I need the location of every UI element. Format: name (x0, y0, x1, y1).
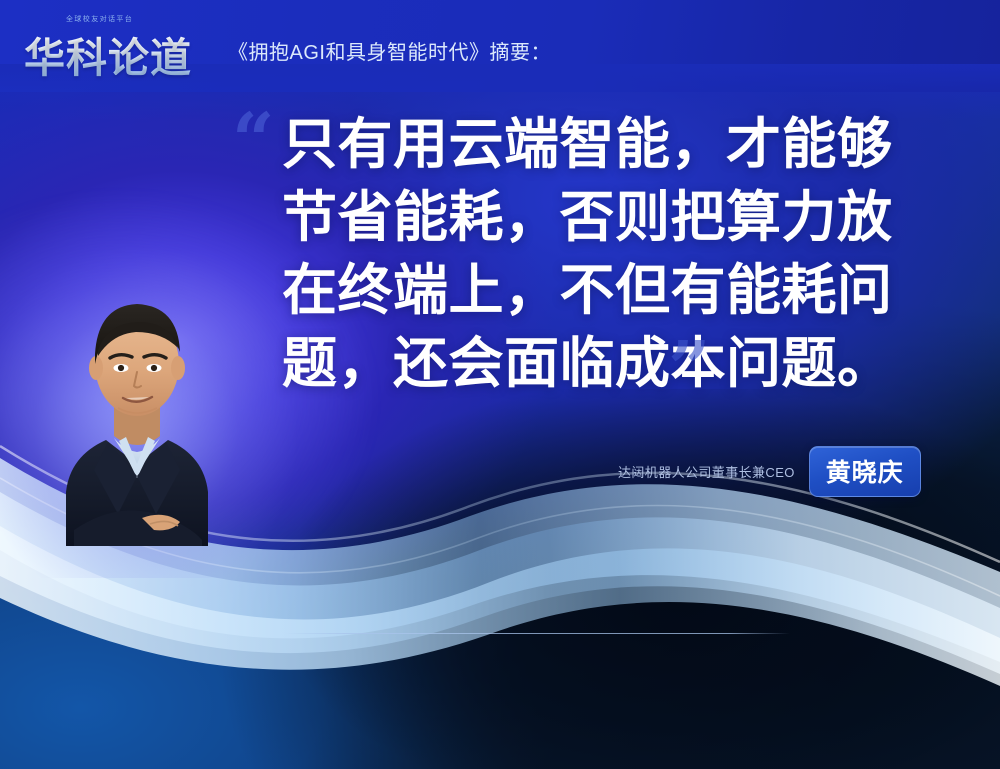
logo-tagline: 全球校友对话平台 (66, 14, 186, 24)
header: 全球校友对话平台 华科论道 《拥抱AGI和具身智能时代》摘要： (0, 0, 1000, 92)
speaker-portrait (22, 278, 252, 546)
speaker-role: 达闼机器人公司董事长兼CEO (618, 462, 795, 481)
brand-logo[interactable]: 全球校友对话平台 华科论道 (24, 14, 214, 76)
quote-open-mark: “ (232, 104, 275, 178)
quote-text: 只有用云端智能，才能够节省能耗，否则把算力放在终端上，不但有能耗问题，还会面临成… (282, 108, 942, 401)
attribution: 达闼机器人公司董事长兼CEO 黄晓庆 (618, 446, 921, 497)
footer: 入群请咨询工作人员： 微信号 srh15029033920（苏同学） 微信号 y… (0, 640, 1000, 769)
poster-root: 全球校友对话平台 华科论道 《拥抱AGI和具身智能时代》摘要： “ 只有用云端智… (0, 0, 1000, 769)
footer-divider (285, 633, 790, 634)
quote-close-mark: ” (668, 332, 711, 406)
speaker-name-badge: 黄晓庆 (809, 446, 921, 497)
logo-wordmark: 华科论道 (24, 24, 192, 84)
header-subtitle: 《拥抱AGI和具身智能时代》摘要： (228, 36, 551, 65)
